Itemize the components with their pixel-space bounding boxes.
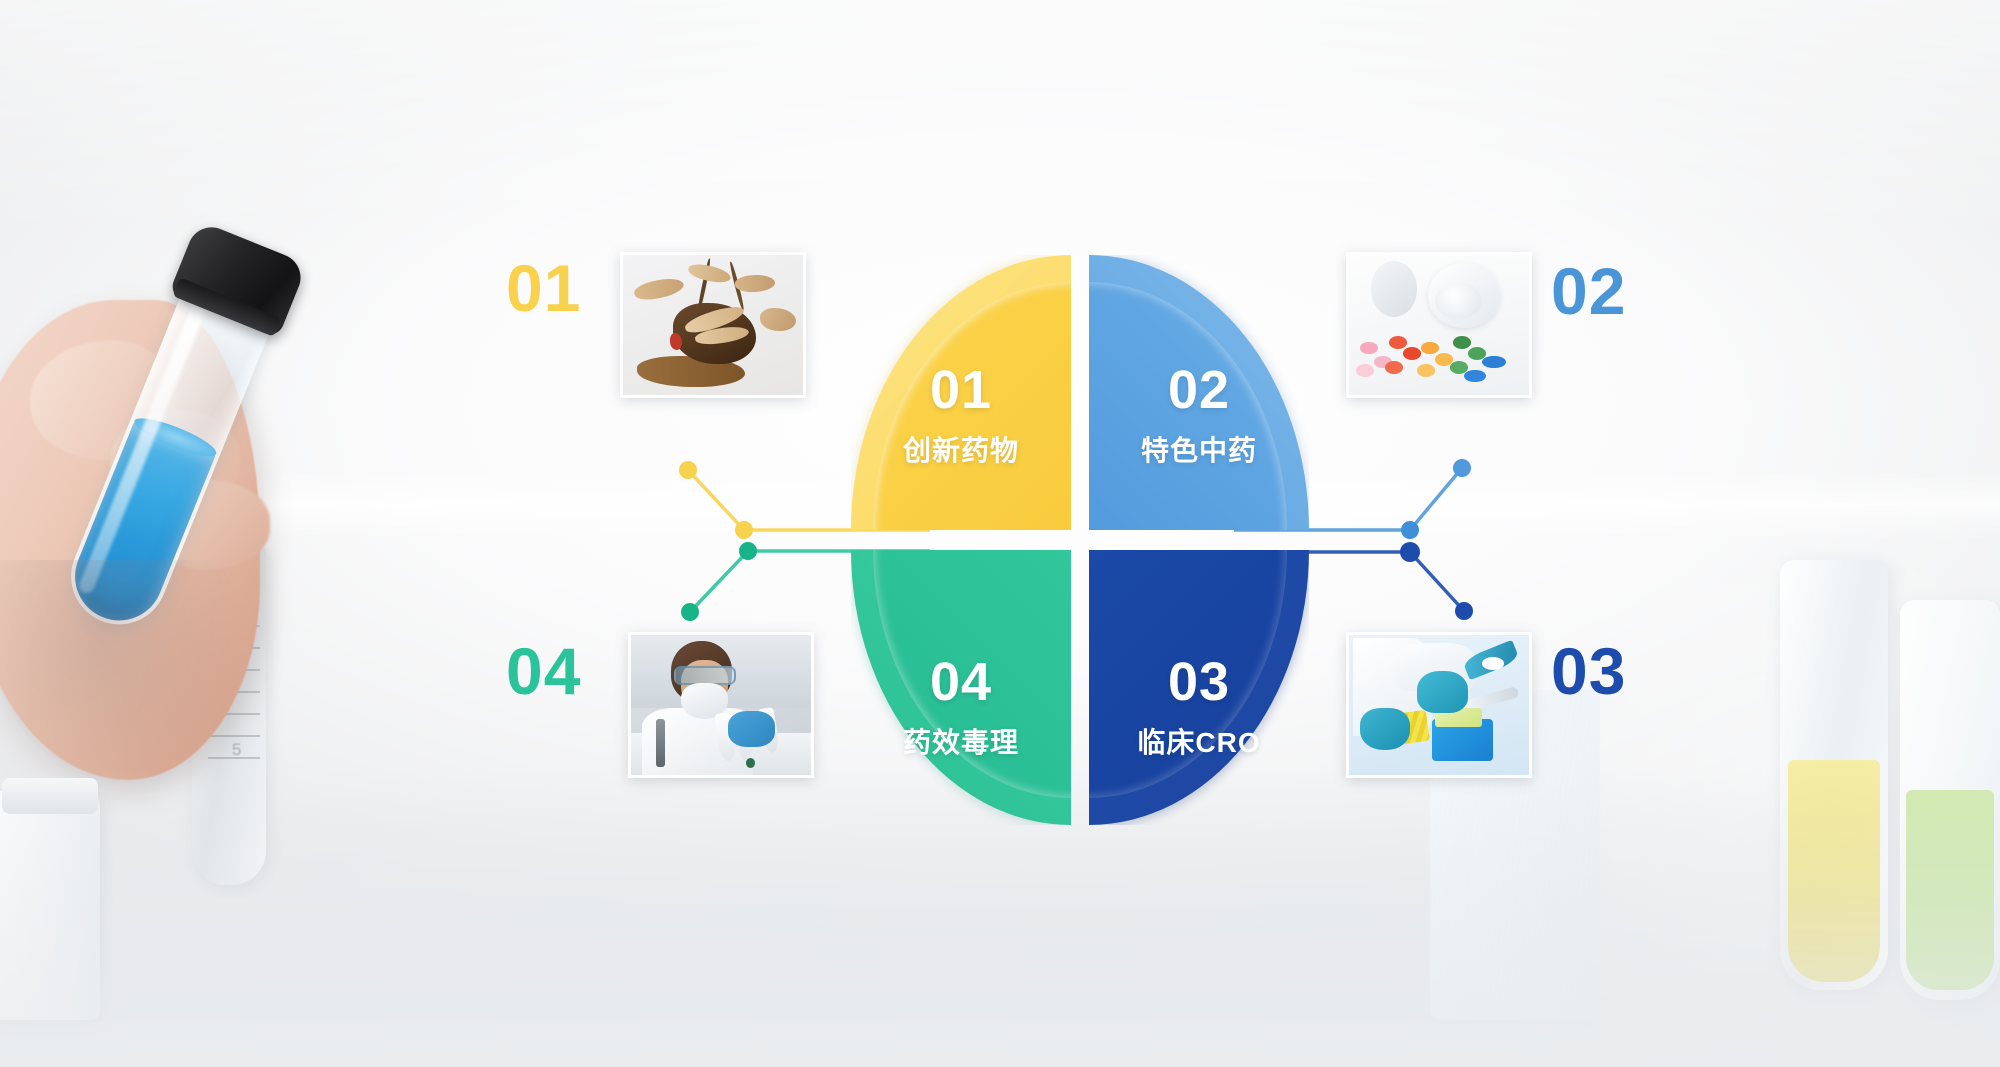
cro-glove-right — [1417, 671, 1467, 713]
lab-stand-rod — [656, 719, 665, 767]
pill-blue-1 — [1482, 356, 1505, 369]
thumbnail-01[interactable] — [620, 252, 806, 398]
quadrant-wheel: 01 创新药物 02 特色中药 04 药效毒理 03 临床CRO — [851, 255, 1309, 825]
outer-number-02: 02 — [1551, 258, 1626, 324]
thumbnail-02[interactable] — [1346, 252, 1532, 398]
cro-tool-highlight — [1482, 657, 1504, 670]
segment-04-pharmacology-toxicology[interactable] — [851, 550, 1071, 825]
outer-number-01: 01 — [506, 255, 581, 321]
segment-03-clinical-cro[interactable] — [1089, 550, 1309, 825]
pill-cup — [1371, 261, 1418, 317]
herbal-medicine-photo — [623, 255, 803, 395]
outer-number-04: 04 — [506, 638, 581, 704]
pill-pink-3 — [1356, 364, 1374, 377]
segment-02-chinese-medicine[interactable] — [1089, 255, 1309, 530]
pill-pink-1 — [1360, 342, 1378, 355]
herb-root-2 — [687, 263, 732, 286]
infographic: 01 创新药物 02 特色中药 04 药效毒理 03 临床CRO 01 02 0… — [0, 0, 2000, 1067]
thumbnail-03[interactable] — [1346, 632, 1532, 778]
pill-red-3 — [1385, 361, 1403, 374]
outer-number-03: 03 — [1551, 638, 1626, 704]
scientist-in-lab-photo — [631, 635, 811, 775]
herb-root-1 — [632, 274, 685, 304]
pills-and-bottle-photo — [1349, 255, 1529, 395]
lab-pipetting-photo — [1349, 635, 1529, 775]
segment-04-inner-panel — [873, 550, 1071, 798]
pill-green-1 — [1453, 336, 1471, 349]
pill-orange-1 — [1421, 342, 1439, 355]
segment-01-inner-panel — [873, 282, 1071, 530]
cro-glove-left — [1360, 708, 1410, 750]
segment-01-innovative-drugs[interactable] — [851, 255, 1071, 530]
thumbnail-04[interactable] — [628, 632, 814, 778]
segment-03-inner-panel — [1089, 550, 1287, 798]
segment-02-inner-panel — [1089, 282, 1287, 530]
herb-red-berry — [670, 333, 683, 350]
pill-orange-3 — [1417, 364, 1435, 377]
herb-root-6 — [760, 308, 796, 330]
herb-root-3 — [734, 273, 775, 294]
pill-blue-2 — [1464, 370, 1486, 383]
pill-red-2 — [1403, 347, 1421, 360]
pill-red-1 — [1389, 336, 1407, 349]
blue-glove — [728, 711, 775, 747]
